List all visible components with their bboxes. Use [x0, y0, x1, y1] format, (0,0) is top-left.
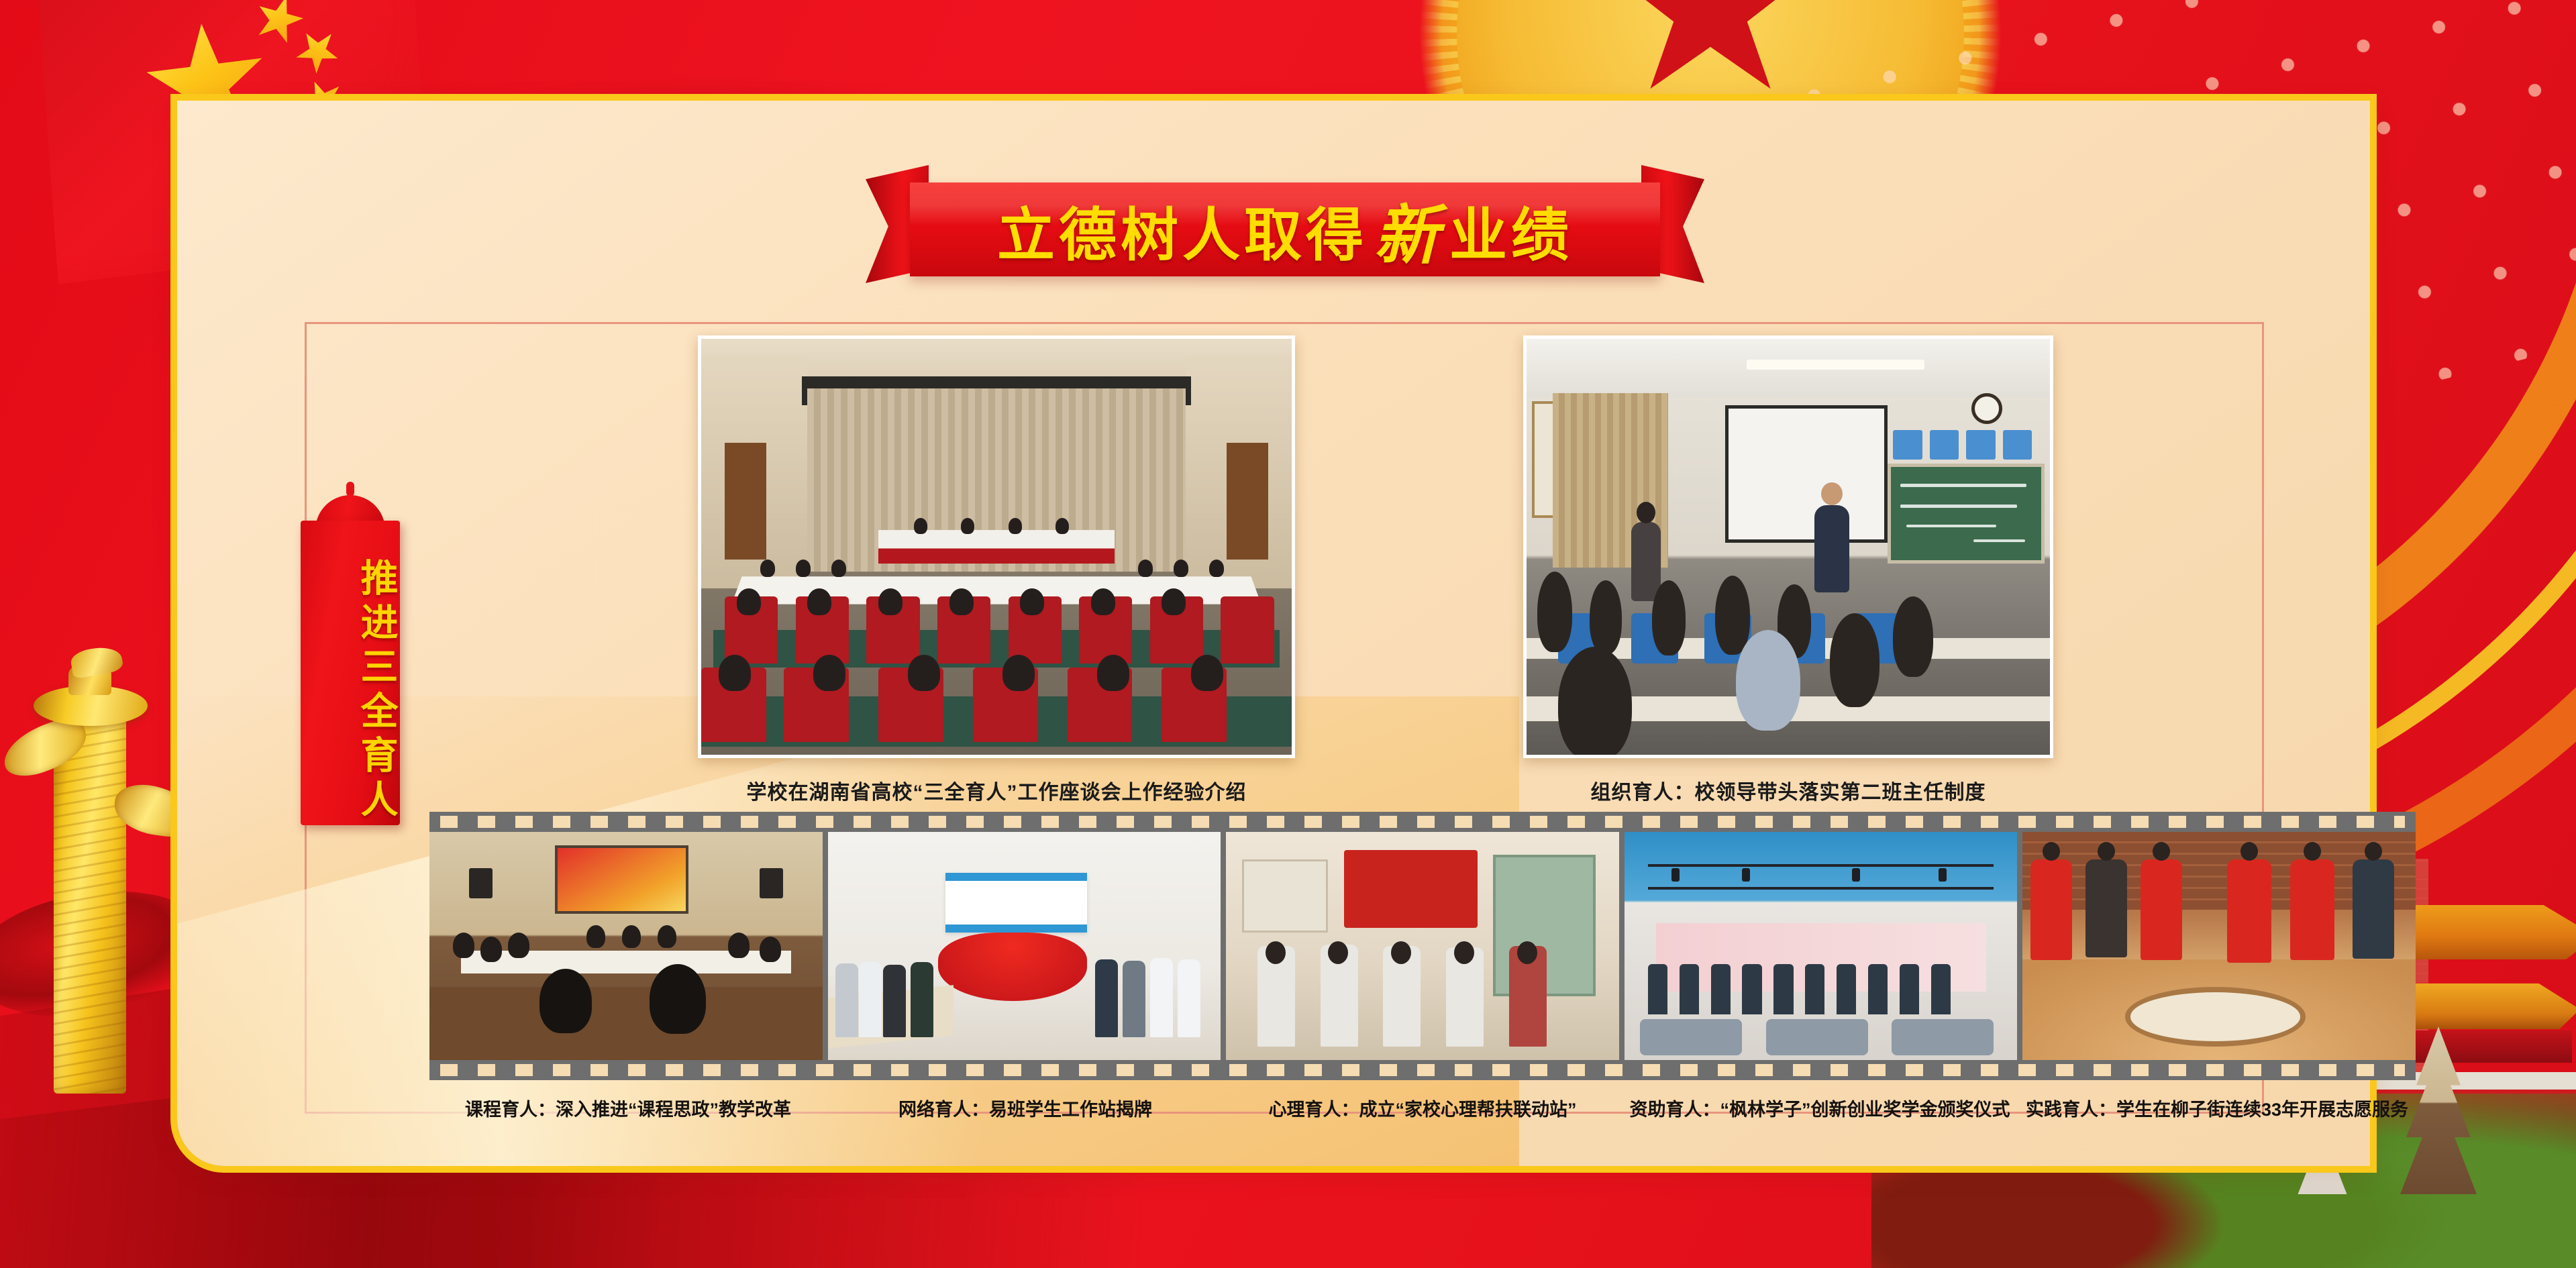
filmstrip — [429, 812, 2416, 1080]
photo-caption-classroom: 组织育人：校领导带头落实第二班主任制度 — [1591, 776, 1986, 805]
title-accent-character: 新 — [1368, 183, 1449, 276]
photo-classroom — [1523, 335, 2053, 758]
photo-conference — [698, 335, 1295, 758]
film-perforation-top — [429, 812, 2416, 832]
thumb-funding[interactable] — [1625, 832, 2018, 1060]
thumb-caption-network: 网络育人：易班学生工作站揭牌 — [827, 1095, 1224, 1121]
huabiao-column-icon — [0, 644, 170, 1114]
thumb-caption-practice: 实践育人：学生在柳子街连续33年开展志愿服务 — [2018, 1095, 2416, 1121]
thumb-psychology[interactable] — [1226, 832, 1619, 1060]
title-part-2: 业绩 — [1449, 188, 1573, 272]
flag-star-small — [288, 21, 348, 81]
flag-star-small — [249, 0, 309, 49]
title-ribbon: 立德树人取得 新 业绩 — [866, 182, 1704, 276]
thumb-caption-funding: 资助育人：“枫林学子”创新创业奖学金颁奖仪式 — [1621, 1095, 2018, 1121]
title-part-1: 立德树人取得 — [997, 188, 1368, 272]
thumb-course[interactable] — [429, 832, 823, 1060]
thumb-practice[interactable] — [2022, 832, 2416, 1060]
side-banner: 推进三全育人 — [301, 490, 400, 825]
thumb-caption-course: 课程育人：深入推进“课程思政”教学改革 — [429, 1095, 827, 1121]
page-title: 立德树人取得 新 业绩 — [866, 182, 1704, 276]
photo-caption-conference: 学校在湖南省高校“三全育人”工作座谈会上作经验介绍 — [747, 776, 1247, 805]
main-photo-row: 学校在湖南省高校“三全育人”工作座谈会上作经验介绍 — [698, 335, 2053, 805]
side-banner-label: 推进三全育人 — [301, 557, 400, 825]
film-perforation-bottom — [429, 1060, 2416, 1080]
poster-stage: 立德树人取得 新 业绩 推进三全育人 — [0, 0, 2576, 1268]
photo-card-classroom: 组织育人：校领导带头落实第二班主任制度 — [1523, 335, 2053, 805]
thumb-network[interactable] — [828, 832, 1221, 1060]
filmstrip-caption-row: 课程育人：深入推进“课程思政”教学改革 网络育人：易班学生工作站揭牌 心理育人：… — [429, 1092, 2416, 1123]
photo-card-conference: 学校在湖南省高校“三全育人”工作座谈会上作经验介绍 — [698, 335, 1295, 805]
thumb-caption-psychology: 心理育人：成立“家校心理帮扶联动站” — [1224, 1095, 1621, 1121]
